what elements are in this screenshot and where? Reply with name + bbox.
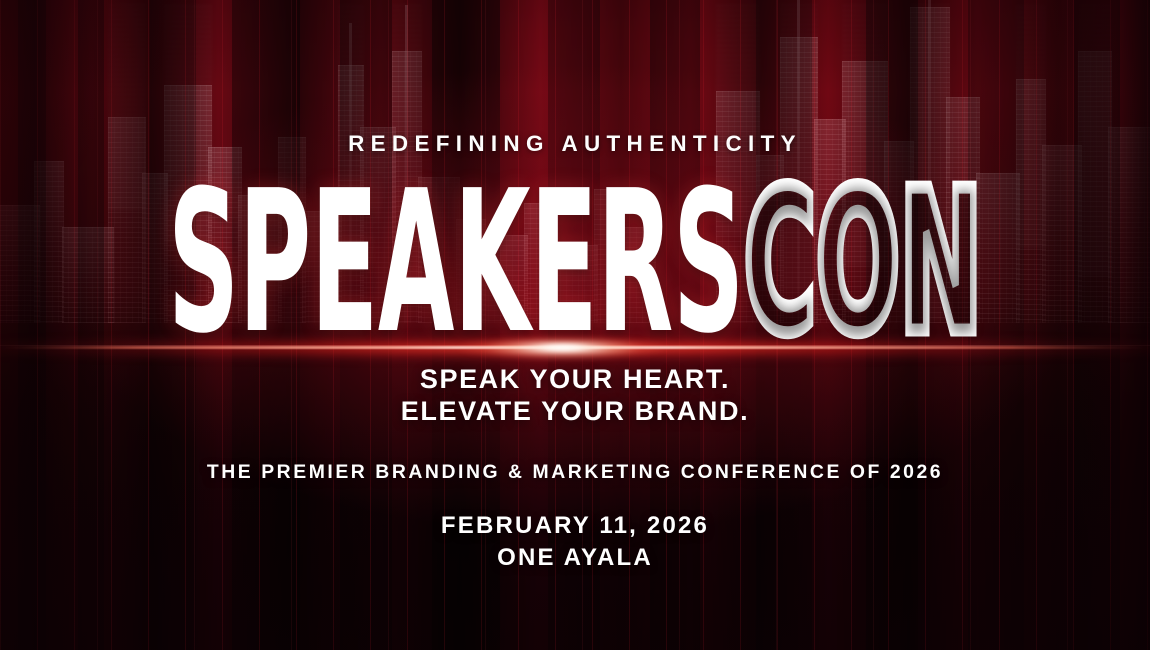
subtitle-line-1: SPEAK YOUR HEART. [0, 364, 1150, 395]
poster-content: REDEFINING AUTHENTICITY SPEAKERSCON SPEA… [0, 0, 1150, 650]
conference-descriptor: THE PREMIER BRANDING & MARKETING CONFERE… [0, 462, 1150, 484]
event-venue: ONE AYALA [0, 544, 1150, 572]
event-poster: REDEFINING AUTHENTICITY SPEAKERSCON SPEA… [0, 0, 1150, 650]
event-title-lockup: SPEAKERSCON [0, 187, 1150, 337]
title-outline-word: CON [744, 149, 982, 377]
subtitle-line-2: ELEVATE YOUR BRAND. [0, 396, 1150, 427]
title-solid-word: SPEAKERS [168, 149, 744, 377]
event-date: FEBRUARY 11, 2026 [0, 512, 1150, 540]
